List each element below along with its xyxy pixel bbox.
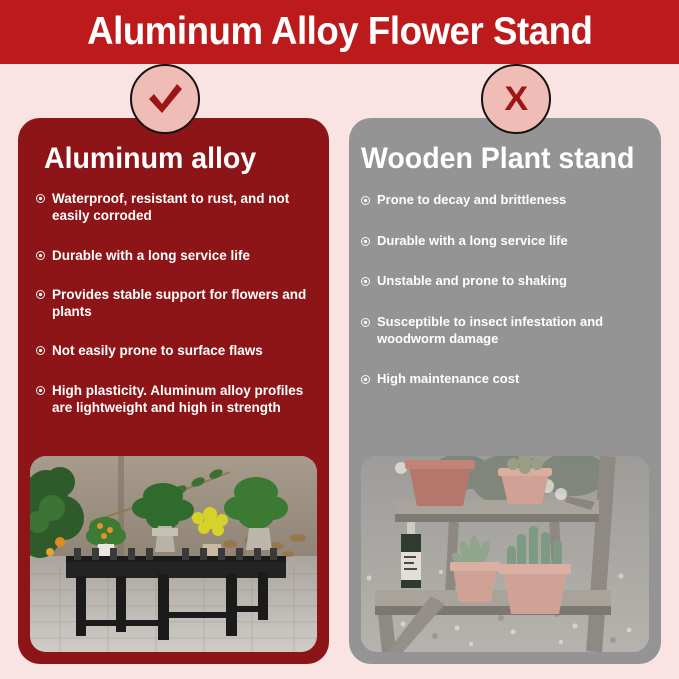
cons-card: Wooden Plant stand Prone to decay and br… [349,118,661,664]
list-item: Unstable and prone to shaking [357,273,651,290]
list-item-text: Durable with a long service life [377,233,651,250]
list-item: Susceptible to insect infestation and wo… [357,314,651,347]
comparison-infographic: Aluminum Alloy Flower Stand X Aluminum a… [0,0,679,679]
x-mark-badge: X [481,64,551,134]
list-item: Provides stable support for flowers and … [32,286,311,321]
bullet-dot-icon [361,237,370,246]
list-item: Durable with a long service life [32,247,311,264]
bullet-dot-icon [36,194,45,203]
list-item: Not easily prone to surface flaws [32,342,311,359]
list-item-text: High maintenance cost [377,371,651,388]
list-item: Durable with a long service life [357,233,651,250]
bullet-dot-icon [36,251,45,260]
list-item-text: Susceptible to insect infestation and wo… [377,314,651,347]
list-item-text: Prone to decay and brittleness [377,192,651,209]
list-item-text: Waterproof, resistant to rust, and not e… [52,190,311,225]
list-item-text: Durable with a long service life [52,247,311,264]
pros-bullet-list: Waterproof, resistant to rust, and not e… [32,190,311,416]
list-item: Prone to decay and brittleness [357,192,651,209]
bullet-dot-icon [361,277,370,286]
bullet-dot-icon [36,290,45,299]
list-item: Waterproof, resistant to rust, and not e… [32,190,311,225]
list-item-text: Provides stable support for flowers and … [52,286,311,321]
header-band: Aluminum Alloy Flower Stand [0,0,679,64]
bullet-dot-icon [36,346,45,355]
x-mark-icon: X [504,82,528,116]
list-item-text: High plasticity. Aluminum alloy profiles… [52,382,311,417]
cons-card-heading: Wooden Plant stand [361,142,646,176]
check-mark-icon [145,80,185,118]
list-item-text: Not easily prone to surface flaws [52,342,311,359]
list-item: High maintenance cost [357,371,651,388]
page-title: Aluminum Alloy Flower Stand [87,10,592,54]
pros-card: Aluminum alloy Waterproof, resistant to … [18,118,329,664]
aluminum-bench-photo [30,456,317,652]
bullet-dot-icon [361,196,370,205]
wooden-stand-photo [361,456,649,652]
cons-bullet-list: Prone to decay and brittleness Durable w… [357,192,651,388]
check-mark-badge [130,64,200,134]
bullet-dot-icon [36,386,45,395]
bullet-dot-icon [361,375,370,384]
pros-card-heading: Aluminum alloy [44,142,315,176]
list-item-text: Unstable and prone to shaking [377,273,651,290]
bullet-dot-icon [361,318,370,327]
list-item: High plasticity. Aluminum alloy profiles… [32,382,311,417]
